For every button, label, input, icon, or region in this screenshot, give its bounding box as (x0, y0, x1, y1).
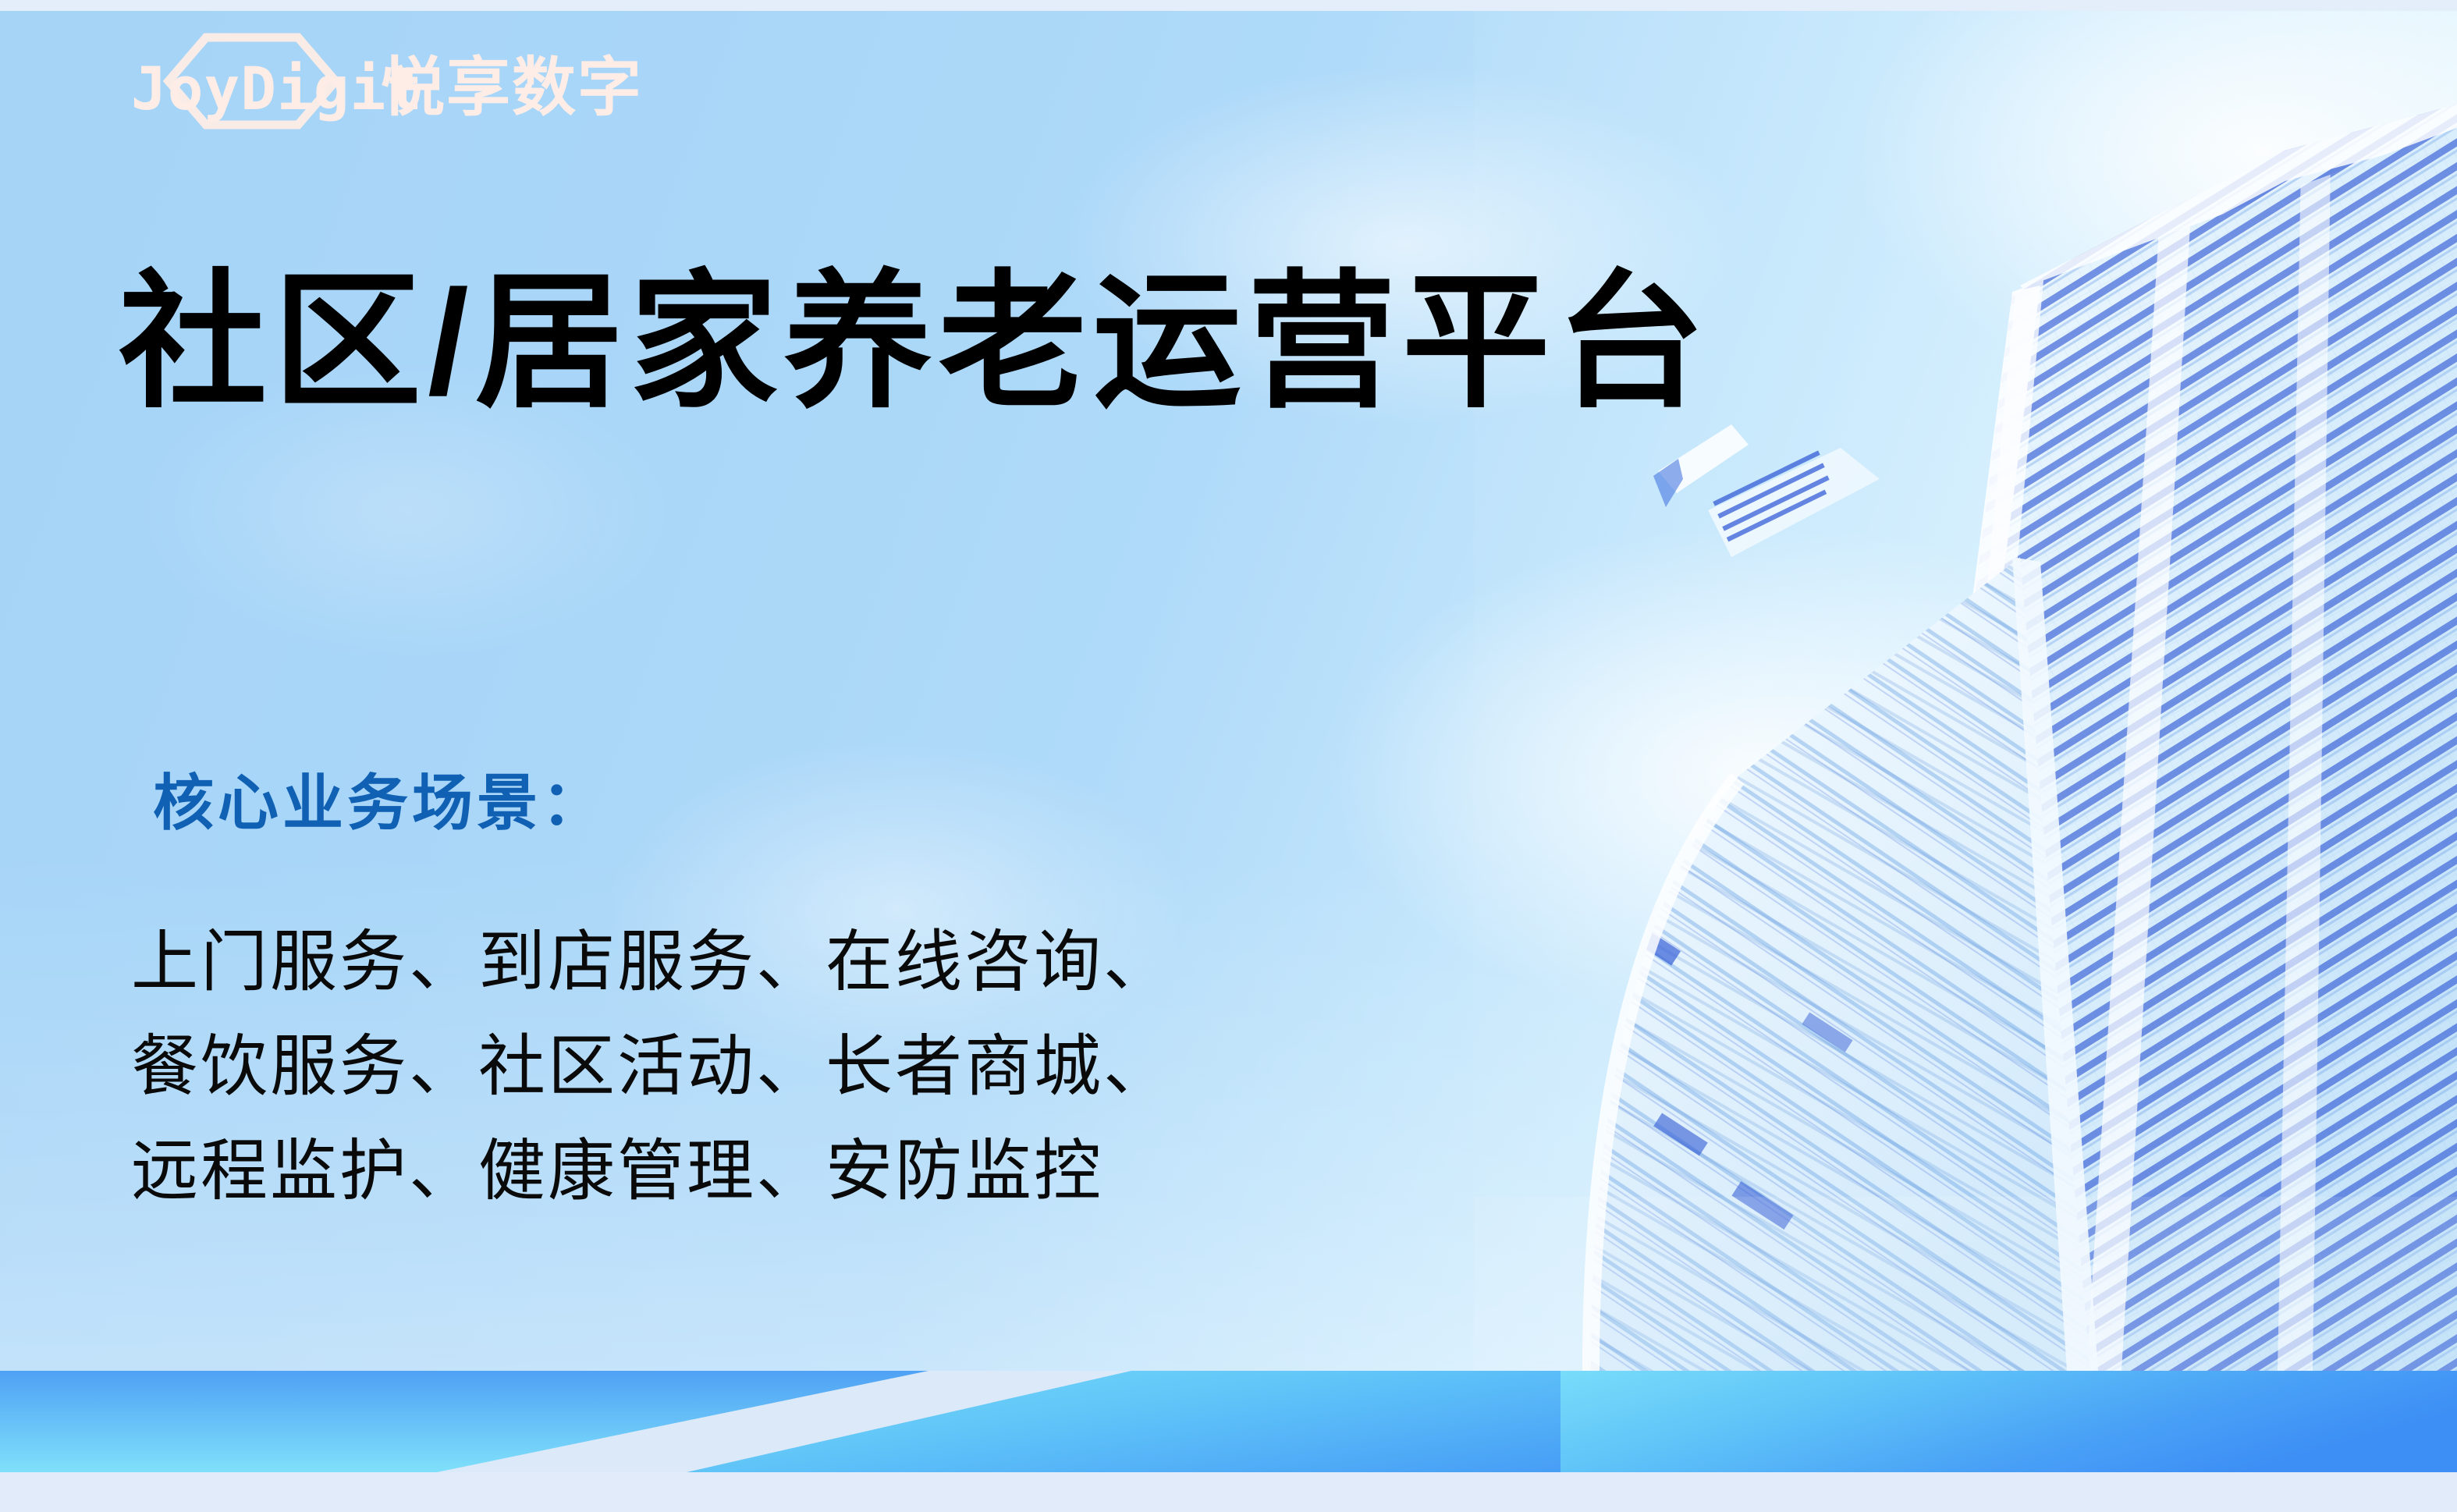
scenario-line: 远程监护、健康管理、安防监控 (131, 1138, 1173, 1205)
band-shape-right-solid (1560, 1371, 2457, 1472)
logo-wordmark: JoyDigit (131, 59, 423, 119)
bottom-decor-band (0, 1371, 2457, 1472)
scenario-line: 餐饮服务、社区活动、长者商城、 (131, 1033, 1173, 1100)
logo-wordmark-cn: 悦享数字 (381, 56, 643, 120)
brand-logo: JoyDigit 悦享数字 (131, 33, 677, 126)
scenario-line: 上门服务、到店服务、在线咨询、 (131, 928, 1173, 996)
scenario-list: 上门服务、到店服务、在线咨询、 餐饮服务、社区活动、长者商城、 远程监护、健康管… (131, 928, 1173, 1205)
skyscraper-illustration (1474, 11, 2457, 1371)
slide-canvas: JoyDigit 悦享数字 社区/居家养老运营平台 核心业务场景： 上门服务、到… (0, 0, 2457, 1512)
skyscraper-photo (1474, 11, 2457, 1371)
footer-strip (0, 1472, 2457, 1512)
top-edge-strip (0, 0, 2457, 11)
page-title: 社区/居家养老运营平台 (119, 257, 1711, 428)
section-subhead: 核心业务场景： (153, 772, 606, 833)
